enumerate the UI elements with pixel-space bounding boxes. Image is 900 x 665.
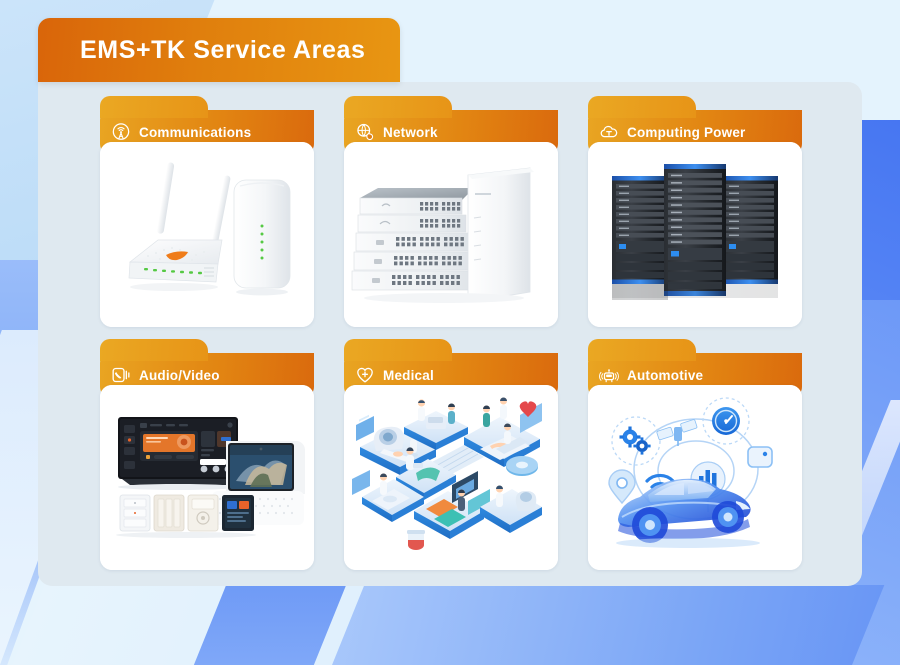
card-image-area: [344, 385, 558, 570]
service-card-network[interactable]: Network: [344, 110, 558, 327]
card-image-area: [588, 142, 802, 327]
card-label: Communications: [139, 125, 251, 140]
service-areas-infographic: EMS+TK Service Areas Communications: [0, 0, 900, 665]
content-panel: Communications: [38, 82, 862, 586]
connected-car-iot-illustration: [588, 385, 802, 570]
cloud-compute-icon: [599, 122, 619, 142]
router-devices-illustration: [100, 142, 314, 327]
phone-speaker-icon: [111, 365, 131, 385]
card-label: Medical: [383, 368, 434, 383]
card-label: Audio/Video: [139, 368, 220, 383]
background-facet-bottom-blue-2: [296, 585, 885, 665]
page-title: EMS+TK Service Areas: [80, 36, 366, 65]
title-banner: EMS+TK Service Areas: [38, 18, 400, 82]
service-card-audio-video[interactable]: Audio/Video: [100, 353, 314, 570]
card-image-area: [588, 385, 802, 570]
card-image-area: [100, 385, 314, 570]
service-card-communications[interactable]: Communications: [100, 110, 314, 327]
card-image-area: [344, 142, 558, 327]
service-card-automotive[interactable]: Automotive: [588, 353, 802, 570]
broadcast-tower-icon: [111, 122, 131, 142]
service-area-grid: Communications: [100, 110, 800, 570]
connected-car-icon: [599, 365, 619, 385]
service-card-medical[interactable]: Medical: [344, 353, 558, 570]
heart-plus-icon: [355, 365, 375, 385]
isometric-hospital-illustration: [344, 385, 558, 570]
card-label: Network: [383, 125, 438, 140]
card-label: Automotive: [627, 368, 703, 383]
smart-home-av-illustration: [100, 385, 314, 570]
network-switches-illustration: [344, 142, 558, 327]
service-card-computing-power[interactable]: Computing Power: [588, 110, 802, 327]
card-label: Computing Power: [627, 125, 746, 140]
globe-network-icon: [355, 122, 375, 142]
server-racks-illustration: [588, 142, 802, 327]
card-image-area: [100, 142, 314, 327]
